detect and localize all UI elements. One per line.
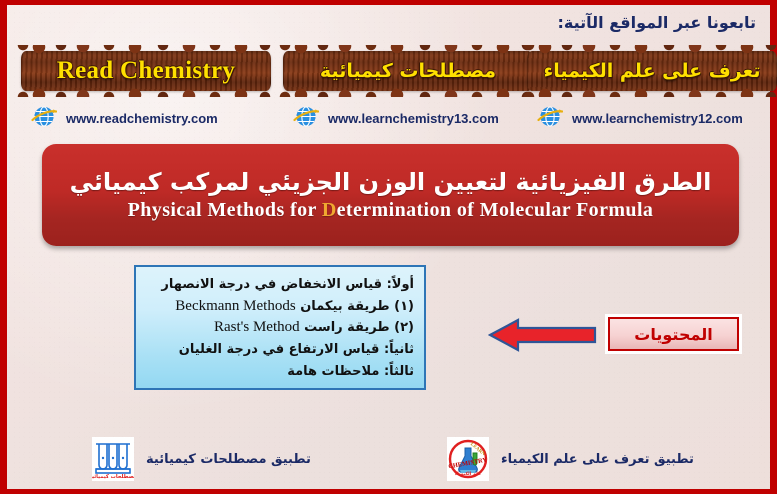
toc-line: أولاً: قياس الانخفاض في درجة الانصهار	[144, 274, 414, 295]
app-link-learn-chemistry[interactable]: تطبيق تعرف على علم الكيمياء CHEMISTRY LE…	[447, 437, 694, 481]
slide-canvas: تابعونا عبر المواقع الآتية: Read Chemist…	[0, 0, 777, 494]
toc-line-arabic: (٢) طريقة راست	[300, 320, 414, 335]
toc-line-arabic: ثانياً: قياس الارتفاع في درجة الغليان	[179, 342, 414, 357]
follow-us-text: تابعونا عبر المواقع الآتية:	[557, 13, 756, 32]
toc-line-arabic: ثالثاً: ملاحظات هامة	[287, 364, 414, 379]
brand-block-learn-chemistry[interactable]: تعرف على علم الكيمياء www.learnchemistry…	[527, 51, 777, 137]
toc-box: أولاً: قياس الانخفاض في درجة الانصهار (١…	[134, 265, 426, 390]
toc-line: ثالثاً: ملاحظات هامة	[144, 361, 414, 382]
page-title-arabic: الطرق الفيزيائية لتعيين الوزن الجزيئي لم…	[70, 168, 712, 196]
wood-plaque: Read Chemistry	[21, 51, 271, 91]
test-tubes-icon[interactable]: مصطلحات كيميائية	[92, 437, 134, 481]
svg-text:مصطلحات كيميائية: مصطلحات كيميائية	[92, 474, 134, 480]
brand-block-read-chemistry[interactable]: Read Chemistry www.readchemistry.com	[21, 51, 271, 137]
app-label: تطبيق مصطلحات كيميائية	[146, 452, 311, 467]
site-url[interactable]: www.learnchemistry12.com	[572, 111, 743, 126]
contents-button-label: المحتويات	[634, 325, 712, 344]
toc-line-latin: Beckmann Methods	[175, 298, 295, 314]
contents-button[interactable]: المحتويات	[608, 317, 739, 351]
toc-line: (٢) طريقة راست Rast's Method	[144, 317, 414, 338]
left-arrow-icon	[488, 317, 597, 353]
toc-line: ثانياً: قياس الارتفاع في درجة الغليان	[144, 339, 414, 360]
title-banner: الطرق الفيزيائية لتعيين الوزن الجزيئي لم…	[42, 144, 739, 246]
site-url[interactable]: www.learnchemistry13.com	[328, 111, 499, 126]
site-row[interactable]: www.learnchemistry13.com	[283, 103, 533, 134]
svg-text:علم الكيمياء: علم الكيمياء	[455, 471, 481, 477]
toc-line-latin: Rast's Method	[214, 319, 300, 335]
app-label: تطبيق تعرف على علم الكيمياء	[501, 452, 694, 467]
globe-icon	[537, 103, 563, 134]
site-row[interactable]: www.readchemistry.com	[21, 103, 271, 134]
toc-line-arabic: أولاً: قياس الانخفاض في درجة الانصهار	[161, 277, 414, 292]
brand-label: تعرف على علم الكيمياء	[544, 60, 761, 82]
brand-block-chemical-terms[interactable]: مصطلحات كيميائية www.learnchemistry13.co…	[283, 51, 533, 137]
brand-label: Read Chemistry	[57, 57, 235, 85]
toc-line: (١) طريقة بيكمان Beckmann Methods	[144, 296, 414, 317]
page-title-english: Physical Methods for Determination of Mo…	[128, 199, 654, 222]
brand-label: مصطلحات كيميائية	[320, 60, 496, 82]
title-en-highlight: D	[322, 199, 337, 221]
app-link-chemical-terms[interactable]: تطبيق مصطلحات كيميائية مصطلحات كيميا	[92, 437, 311, 481]
wood-plaque: مصطلحات كيميائية	[283, 51, 533, 91]
learn-chemistry-logo-icon[interactable]: CHEMISTRY LEARN علم الكيمياء	[447, 437, 489, 481]
site-row[interactable]: www.learnchemistry12.com	[527, 103, 777, 134]
title-en-post: etermination of Molecular Formula	[337, 199, 654, 221]
site-url[interactable]: www.readchemistry.com	[66, 111, 218, 126]
wood-plaque: تعرف على علم الكيمياء	[527, 51, 777, 91]
globe-icon	[31, 103, 57, 134]
globe-icon	[293, 103, 319, 134]
title-en-pre: Physical Methods for	[128, 199, 322, 221]
toc-line-arabic: (١) طريقة بيكمان	[296, 299, 414, 314]
